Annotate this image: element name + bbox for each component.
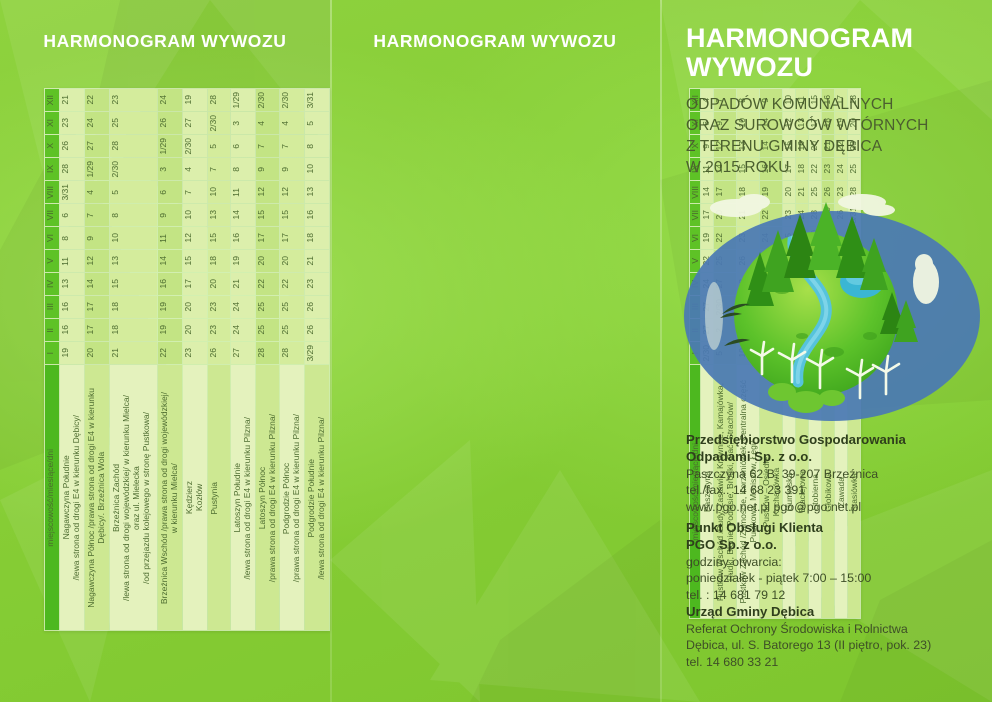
contact-heading: Urząd Gminy Dębica [686, 604, 956, 621]
schedule-day-cell: 16 [60, 296, 84, 318]
contact-heading: PGO Sp. z o.o. [686, 537, 956, 554]
schedule-day-cell: 11 [231, 181, 255, 203]
contact-line: tel. 14 680 33 21 [686, 654, 956, 671]
schedule-day-cell: 1/29 [158, 135, 182, 157]
schedule-month-row: XI23242526272/303445 [45, 112, 329, 134]
schedule-month-row: V11121314151819202021 [45, 250, 329, 272]
schedule-day-cell: 1/29 [231, 89, 255, 111]
schedule-day-cell: 17 [183, 273, 207, 295]
location-name-cell: Latoszyn Północ /prawa strona od drogi E… [256, 365, 280, 630]
schedule-day-cell: 21 [305, 250, 329, 272]
contact-line: Referat Ochrony Środowiska i Rolnictwa [686, 621, 956, 638]
schedule-day-cell: 21 [231, 273, 255, 295]
schedule-day-cell: 28 [256, 342, 280, 364]
schedule-month-row: VII6789101314151516 [45, 204, 329, 226]
schedule-day-cell: 5 [208, 135, 230, 157]
schedule-day-cell: 5 [110, 181, 157, 203]
schedule-day-cell: 23 [305, 273, 329, 295]
schedule-day-cell: 11 [60, 250, 84, 272]
schedule-day-cell: 18 [208, 250, 230, 272]
schedule-day-cell: 6 [60, 204, 84, 226]
contact-block-pgo: Przedsiębiorstwo GospodarowaniaOdpadami … [686, 432, 956, 515]
schedule-day-cell: 10 [305, 158, 329, 180]
contact-block-customer-service: Punkt Obsługi KlientaPGO Sp. z o.o.godzi… [686, 520, 956, 603]
schedule-day-cell: 7 [85, 204, 109, 226]
schedule-day-cell: 16 [231, 227, 255, 249]
schedule-day-cell: 3 [158, 158, 182, 180]
schedule-day-cell: 7 [183, 181, 207, 203]
schedule-day-cell: 22 [85, 89, 109, 111]
schedule-month-row: X2627281/292/3056778 [45, 135, 329, 157]
location-name-cell: Latoszyn Południe /lewa strona od drogi … [231, 365, 255, 630]
schedule-month-row: IX281/292/3034789910 [45, 158, 329, 180]
contact-block-urzad-gminy: Urząd Gminy DębicaReferat Ochrony Środow… [686, 604, 956, 671]
schedule-day-cell: 14 [85, 273, 109, 295]
schedule-day-cell: 5 [305, 112, 329, 134]
eco-globe-illustration [674, 186, 984, 426]
month-header-cell: VIII [45, 181, 59, 203]
schedule-day-cell: 19 [231, 250, 255, 272]
schedule-day-cell: 19 [158, 319, 182, 341]
schedule-day-cell: 23 [183, 342, 207, 364]
schedule-day-cell: 10 [183, 204, 207, 226]
schedule-day-cell: 6 [231, 135, 255, 157]
contact-heading: Punkt Obsługi Klienta [686, 520, 956, 537]
schedule-day-cell: 14 [158, 250, 182, 272]
schedule-day-cell: 11 [158, 227, 182, 249]
schedule-day-cell: 8 [60, 227, 84, 249]
schedule-day-cell: 3/29 [305, 342, 329, 364]
schedule-day-cell: 8 [231, 158, 255, 180]
schedule-day-cell: 22 [158, 342, 182, 364]
schedule-day-cell: 28 [280, 342, 304, 364]
schedule-day-cell: 16 [60, 319, 84, 341]
location-name-cell: Nagawczyna Południe /lewa strona od drog… [60, 365, 84, 630]
schedule-day-cell: 20 [183, 319, 207, 341]
schedule-day-cell: 17 [85, 319, 109, 341]
schedule-day-cell: 15 [183, 250, 207, 272]
cover-title-line2: WYWOZU [686, 53, 976, 82]
schedule-day-cell: 14 [231, 204, 255, 226]
schedule-month-row: XII2122232419281/292/302/303/31 [45, 89, 329, 111]
schedule-day-cell: 3 [231, 112, 255, 134]
schedule-day-cell: 6 [158, 181, 182, 203]
schedule-day-cell: 28 [60, 158, 84, 180]
schedule-day-cell: 7 [256, 135, 280, 157]
cover-subtitle-line-4: W 2015 ROKU [686, 158, 986, 179]
schedule-month-row: VIII3/3145671011121213 [45, 181, 329, 203]
schedule-day-cell: 23 [110, 89, 157, 111]
schedule-day-cell: 26 [305, 296, 329, 318]
cover-title-line1: HARMONOGRAM [686, 24, 976, 53]
schedule-day-cell: 12 [280, 181, 304, 203]
schedule-day-cell: 10 [208, 181, 230, 203]
month-header-cell: XI [45, 112, 59, 134]
schedule-day-cell: 17 [280, 227, 304, 249]
month-header-cell: V [45, 250, 59, 272]
contact-line: tel./fax.: 14 68 23 391 [686, 482, 956, 499]
schedule-day-cell: 21 [110, 342, 157, 364]
schedule-day-cell: 13 [110, 250, 157, 272]
schedule-day-cell: 25 [256, 296, 280, 318]
location-name-cell: Nagawczyna Północ /prawa strona od drogi… [85, 365, 109, 630]
schedule-day-cell: 9 [256, 158, 280, 180]
schedule-day-cell: 26 [60, 135, 84, 157]
schedule-day-cell: 2/30 [183, 135, 207, 157]
schedule-day-cell: 26 [208, 342, 230, 364]
schedule-day-cell: 23 [208, 296, 230, 318]
schedule-day-cell: 26 [305, 319, 329, 341]
schedule-day-cell: 8 [305, 135, 329, 157]
schedule-day-cell: 25 [110, 112, 157, 134]
schedule-location-row: miejscowość/miesiące/dniNagawczyna Połud… [45, 365, 329, 630]
schedule-day-cell: 23 [208, 319, 230, 341]
cover-title: HARMONOGRAM WYWOZU [686, 24, 976, 81]
schedule-day-cell: 25 [256, 319, 280, 341]
schedule-day-cell: 20 [85, 342, 109, 364]
schedule-month-row: I1920212223262728283/29 [45, 342, 329, 364]
location-name-cell: Pustynia [208, 365, 230, 630]
panel-left: HARMONOGRAM WYWOZU XII2122232419281/292/… [0, 0, 330, 702]
panel-cover: HARMONOGRAM WYWOZU ODPADÓW KOMUNALNYCHOR… [660, 0, 992, 702]
schedule-day-cell: 9 [85, 227, 109, 249]
schedule-day-cell: 25 [280, 319, 304, 341]
schedule-month-row: III16171819202324252526 [45, 296, 329, 318]
schedule-day-cell: 13 [208, 204, 230, 226]
schedule-day-cell: 9 [280, 158, 304, 180]
schedule-day-cell: 20 [208, 273, 230, 295]
schedule-table-1-wrapper: XII2122232419281/292/302/303/31XI2324252… [44, 88, 330, 631]
schedule-day-cell: 15 [256, 204, 280, 226]
location-name-cell: Brzeźnica Wschód /prawa strona od drogi … [158, 365, 182, 630]
schedule-table-1: XII2122232419281/292/302/303/31XI2324252… [44, 88, 330, 631]
location-name-cell: Podgrodzie Południe /lewa strona od drog… [305, 365, 329, 630]
schedule-day-cell: 17 [85, 296, 109, 318]
contact-line: www.pgo.net.pl pgo@pgo.net.pl [686, 499, 956, 516]
schedule-day-cell: 18 [110, 319, 157, 341]
schedule-day-cell: 2/30 [256, 89, 280, 111]
schedule-day-cell: 22 [256, 273, 280, 295]
schedule-month-row: VI891011121516171718 [45, 227, 329, 249]
panel-middle-title: HARMONOGRAM WYWOZU [330, 31, 660, 52]
schedule-day-cell: 15 [208, 227, 230, 249]
schedule-day-cell: 8 [110, 204, 157, 226]
schedule-day-cell: 19 [183, 89, 207, 111]
contact-line: Paszczyna 62 B, 39-207 Brzeźnica [686, 466, 956, 483]
schedule-day-cell: 20 [183, 296, 207, 318]
month-header-cell: I [45, 342, 59, 364]
schedule-day-cell: 2/30 [208, 112, 230, 134]
corner-label-cell: miejscowość/miesiące/dni [45, 365, 59, 630]
schedule-day-cell: 20 [256, 250, 280, 272]
schedule-day-cell: 27 [183, 112, 207, 134]
contact-heading: Odpadami Sp. z o.o. [686, 449, 956, 466]
schedule-day-cell: 4 [85, 181, 109, 203]
month-header-cell: X [45, 135, 59, 157]
schedule-day-cell: 28 [208, 89, 230, 111]
schedule-day-cell: 12 [183, 227, 207, 249]
month-header-cell: IX [45, 158, 59, 180]
contact-line: tel. : 14 681 79 12 [686, 587, 956, 604]
contact-line: poniedziałek - piątek 7:00 – 15:00 [686, 570, 956, 587]
schedule-day-cell: 2/30 [110, 158, 157, 180]
schedule-day-cell: 23 [60, 112, 84, 134]
schedule-day-cell: 24 [85, 112, 109, 134]
schedule-day-cell: 13 [305, 181, 329, 203]
contact-line: Dębica, ul. S. Batorego 13 (II piętro, p… [686, 637, 956, 654]
schedule-day-cell: 15 [110, 273, 157, 295]
schedule-month-row: IV13141516172021222223 [45, 273, 329, 295]
schedule-day-cell: 4 [256, 112, 280, 134]
schedule-day-cell: 3/31 [60, 181, 84, 203]
schedule-day-cell: 1/29 [85, 158, 109, 180]
schedule-day-cell: 18 [110, 296, 157, 318]
schedule-day-cell: 12 [85, 250, 109, 272]
panel-middle: HARMONOGRAM WYWOZU XII4789101115161718XI… [330, 0, 660, 702]
schedule-day-cell: 7 [280, 135, 304, 157]
month-header-cell: XII [45, 89, 59, 111]
schedule-day-cell: 17 [256, 227, 280, 249]
schedule-day-cell: 21 [60, 89, 84, 111]
panel-left-title: HARMONOGRAM WYWOZU [0, 31, 330, 52]
contact-line: godziny otwarcia: [686, 554, 956, 571]
schedule-day-cell: 24 [231, 296, 255, 318]
schedule-day-cell: 19 [158, 296, 182, 318]
schedule-day-cell: 18 [305, 227, 329, 249]
month-header-cell: II [45, 319, 59, 341]
schedule-day-cell: 26 [158, 112, 182, 134]
schedule-day-cell: 16 [305, 204, 329, 226]
schedule-day-cell: 22 [280, 273, 304, 295]
schedule-day-cell: 28 [110, 135, 157, 157]
schedule-day-cell: 4 [280, 112, 304, 134]
cover-subtitle: ODPADÓW KOMUNALNYCHORAZ SUROWCÓW WTÓRNYC… [686, 95, 986, 179]
schedule-month-row: II16171819202324252526 [45, 319, 329, 341]
schedule-day-cell: 10 [110, 227, 157, 249]
schedule-day-cell: 13 [60, 273, 84, 295]
schedule-day-cell: 3/31 [305, 89, 329, 111]
cover-subtitle-line-3: Z TERENU GMINY DĘBICA [686, 137, 986, 158]
schedule-day-cell: 27 [85, 135, 109, 157]
cover-subtitle-line-2: ORAZ SUROWCÓW WTÓRNYCH [686, 116, 986, 137]
cover-subtitle-line-1: ODPADÓW KOMUNALNYCH [686, 95, 986, 116]
month-header-cell: IV [45, 273, 59, 295]
schedule-day-cell: 25 [280, 296, 304, 318]
schedule-day-cell: 24 [231, 319, 255, 341]
location-name-cell: Brzeźnica Zachód /lewa strona od drogi w… [110, 365, 157, 630]
schedule-day-cell: 4 [183, 158, 207, 180]
schedule-day-cell: 19 [60, 342, 84, 364]
schedule-day-cell: 24 [158, 89, 182, 111]
schedule-day-cell: 2/30 [280, 89, 304, 111]
location-name-cell: Podgrodzie Północ /prawa strona od drogi… [280, 365, 304, 630]
schedule-day-cell: 7 [208, 158, 230, 180]
schedule-day-cell: 15 [280, 204, 304, 226]
contact-heading: Przedsiębiorstwo Gospodarowania [686, 432, 956, 449]
month-header-cell: VI [45, 227, 59, 249]
schedule-day-cell: 20 [280, 250, 304, 272]
schedule-day-cell: 27 [231, 342, 255, 364]
location-name-cell: Kędzierz Kozłów [183, 365, 207, 630]
schedule-day-cell: 12 [256, 181, 280, 203]
month-header-cell: VII [45, 204, 59, 226]
month-header-cell: III [45, 296, 59, 318]
schedule-day-cell: 16 [158, 273, 182, 295]
schedule-day-cell: 9 [158, 204, 182, 226]
